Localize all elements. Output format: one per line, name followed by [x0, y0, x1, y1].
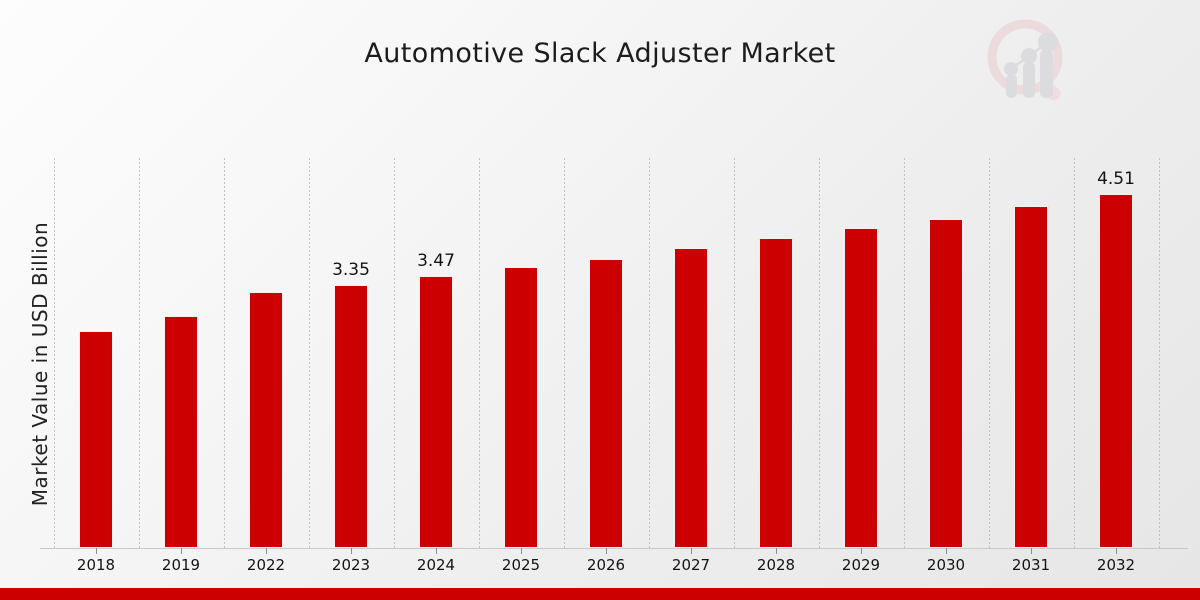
- gridline: [139, 158, 140, 548]
- gridline: [1159, 158, 1160, 548]
- x-tick-label-2029: 2029: [826, 556, 896, 574]
- bar-2018[interactable]: [79, 331, 113, 548]
- x-tick-2025: [521, 548, 522, 554]
- gridline: [394, 158, 395, 548]
- bar-2019[interactable]: [164, 316, 198, 548]
- x-tick-label-2024: 2024: [401, 556, 471, 574]
- gridline: [649, 158, 650, 548]
- x-tick-2019: [181, 548, 182, 554]
- x-tick-label-2019: 2019: [146, 556, 216, 574]
- x-tick-label-2025: 2025: [486, 556, 556, 574]
- gridline: [54, 158, 55, 548]
- y-axis-title: Market Value in USD Billion: [28, 154, 52, 574]
- plot-area: [54, 158, 1185, 548]
- x-tick-label-2031: 2031: [996, 556, 1066, 574]
- bar-value-label-2023: 3.35: [316, 260, 386, 280]
- gridline: [904, 158, 905, 548]
- gridline: [479, 158, 480, 548]
- gridline: [309, 158, 310, 548]
- x-tick-label-2026: 2026: [571, 556, 641, 574]
- gridline: [734, 158, 735, 548]
- market-research-magnifier-logo: [978, 14, 1082, 110]
- bar-2030[interactable]: [929, 219, 963, 548]
- x-tick-label-2018: 2018: [61, 556, 131, 574]
- x-tick-2031: [1031, 548, 1032, 554]
- x-tick-label-2022: 2022: [231, 556, 301, 574]
- x-tick-2022: [266, 548, 267, 554]
- x-tick-2027: [691, 548, 692, 554]
- gridline: [564, 158, 565, 548]
- x-axis-line: [40, 548, 1188, 549]
- bar-2026[interactable]: [589, 259, 623, 548]
- x-tick-label-2030: 2030: [911, 556, 981, 574]
- gridline: [224, 158, 225, 548]
- chart-canvas: Automotive Slack Adjuster Market Market …: [0, 0, 1200, 600]
- x-tick-2030: [946, 548, 947, 554]
- bar-2025[interactable]: [504, 267, 538, 548]
- bar-2028[interactable]: [759, 238, 793, 548]
- bar-2032[interactable]: [1099, 194, 1133, 548]
- bar-2022[interactable]: [249, 292, 283, 548]
- bar-value-label-2032: 4.51: [1081, 169, 1151, 189]
- bar-value-label-2024: 3.47: [401, 251, 471, 271]
- bar-2031[interactable]: [1014, 206, 1048, 548]
- gridline: [989, 158, 990, 548]
- x-tick-label-2027: 2027: [656, 556, 726, 574]
- x-tick-label-2023: 2023: [316, 556, 386, 574]
- bar-2023[interactable]: [334, 285, 368, 548]
- x-tick-2023: [351, 548, 352, 554]
- x-tick-2024: [436, 548, 437, 554]
- x-tick-label-2032: 2032: [1081, 556, 1151, 574]
- x-tick-2026: [606, 548, 607, 554]
- x-tick-2032: [1116, 548, 1117, 554]
- x-tick-2029: [861, 548, 862, 554]
- x-tick-2028: [776, 548, 777, 554]
- x-tick-label-2028: 2028: [741, 556, 811, 574]
- gridline: [819, 158, 820, 548]
- bar-2029[interactable]: [844, 228, 878, 548]
- footer-accent-bar: [0, 588, 1200, 600]
- bar-2027[interactable]: [674, 248, 708, 548]
- bar-2024[interactable]: [419, 276, 453, 548]
- gridline: [1074, 158, 1075, 548]
- x-tick-2018: [96, 548, 97, 554]
